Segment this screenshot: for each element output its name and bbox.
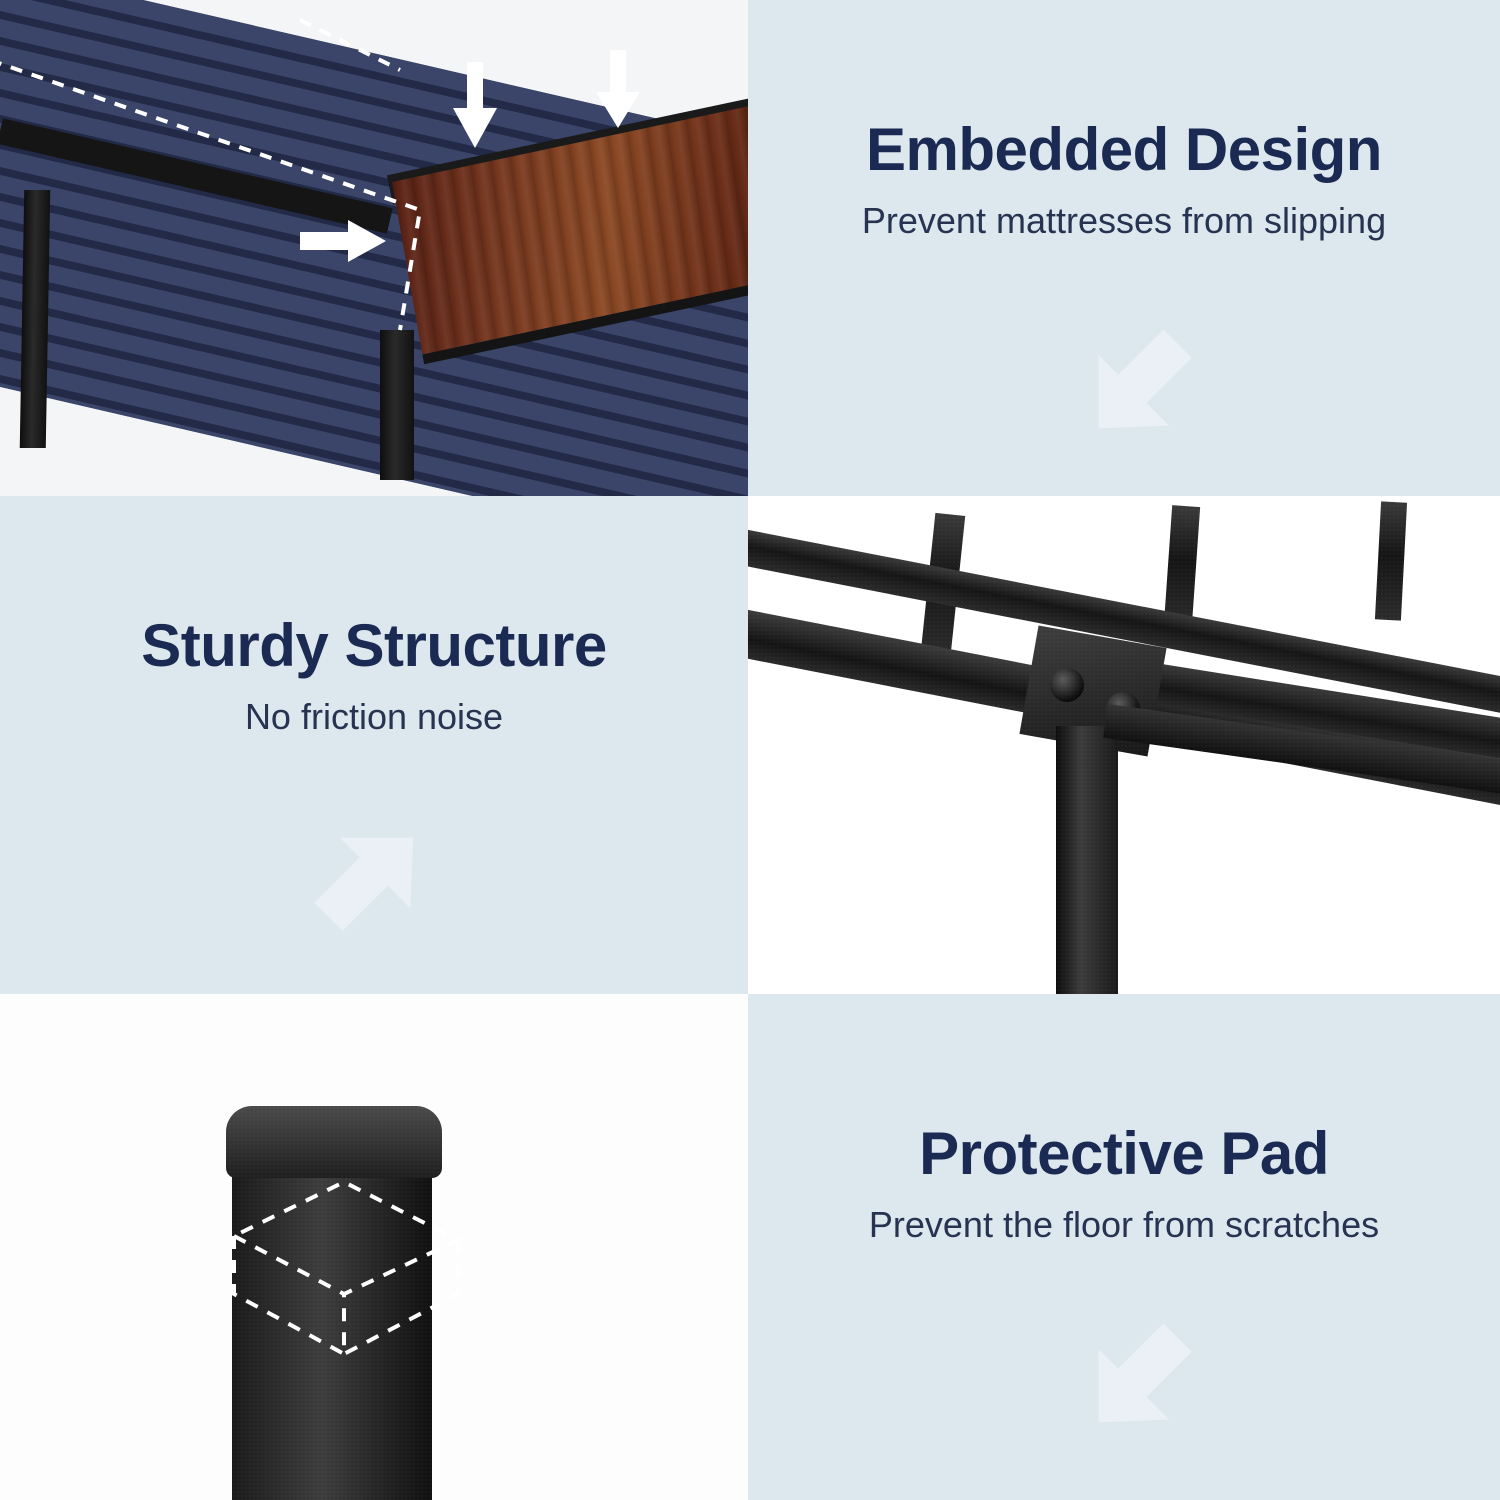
sturdy-structure-headline: Sturdy Structure [26, 614, 722, 677]
sturdy-structure-subline: No friction noise [26, 695, 722, 738]
bolt-1 [1050, 668, 1084, 702]
panel-sturdy-structure-text: Sturdy Structure No friction noise [0, 496, 748, 994]
leg-pad-photo [0, 994, 748, 1500]
embedded-design-subline: Prevent mattresses from slipping [774, 199, 1474, 242]
protective-pad-headline: Protective Pad [774, 1122, 1474, 1185]
bed-corner-photo [0, 0, 748, 496]
slat-bar-2 [1164, 505, 1200, 627]
panel-protective-pad-text: Protective Pad Prevent the floor from sc… [748, 994, 1500, 1500]
feature-grid: Embedded Design Prevent mattresses from … [0, 0, 1500, 1500]
pad-dashed-outline [226, 1144, 466, 1374]
panel-embedded-design-text: Embedded Design Prevent mattresses from … [748, 0, 1500, 496]
arrow-up-right-icon [300, 824, 440, 944]
frame-joint-photo [748, 496, 1500, 994]
protective-pad-subline: Prevent the floor from scratches [774, 1203, 1474, 1246]
panel-sturdy-structure-photo [748, 496, 1500, 994]
embedded-design-headline: Embedded Design [774, 118, 1474, 181]
arrow-down-icon-2 [588, 50, 648, 132]
arrow-down-icon-1 [445, 62, 505, 152]
slat-bar-3 [1375, 501, 1407, 620]
support-leg [1056, 726, 1118, 994]
arrow-right-icon [300, 218, 390, 264]
panel-protective-pad-photo [0, 994, 748, 1500]
panel-embedded-design-photo [0, 0, 748, 496]
arrow-up-left-icon [1070, 330, 1210, 450]
arrow-up-left-icon-2 [1070, 1324, 1210, 1444]
